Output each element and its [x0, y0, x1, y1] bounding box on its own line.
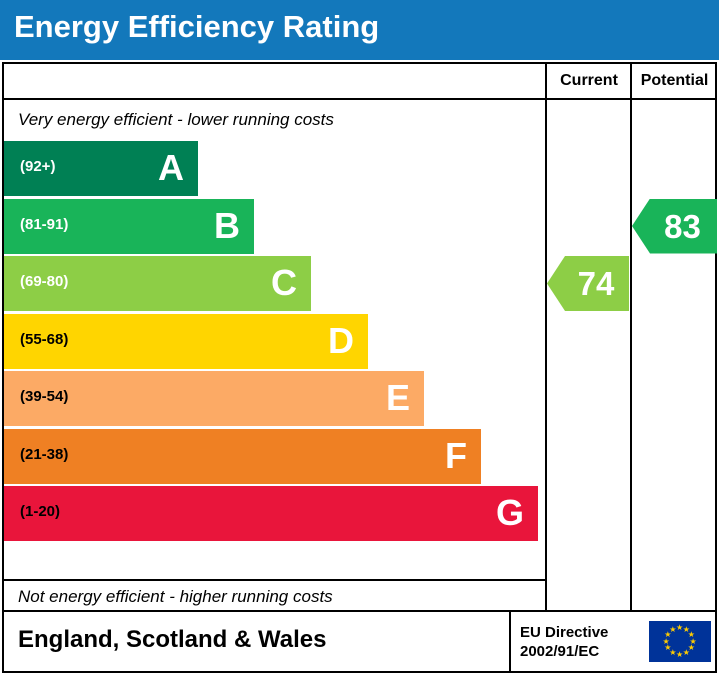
certificate-footer: England, Scotland & Wales EU Directive 2…	[2, 612, 717, 673]
column-divider-potential	[630, 64, 632, 610]
page-title: Energy Efficiency Rating	[14, 9, 379, 45]
band-range-a: (92+)	[20, 158, 55, 175]
eu-star-icon: ★	[669, 626, 676, 634]
band-bar-e: (39-54)E	[4, 371, 424, 426]
band-bar-c: (69-80)C	[4, 256, 311, 311]
eu-directive-line2: 2002/91/EC	[520, 643, 599, 660]
band-bar-b: (81-91)B	[4, 199, 254, 254]
current-rating-arrow: 74	[547, 256, 629, 311]
footer-divider	[509, 612, 511, 671]
eu-directive-line1: EU Directive	[520, 624, 608, 641]
potential-rating-arrow: 83	[632, 199, 717, 254]
footer-region-label: England, Scotland & Wales	[18, 626, 326, 654]
band-bar-g: (1-20)G	[4, 486, 538, 541]
band-letter-e: E	[386, 375, 410, 421]
band-letter-f: F	[445, 433, 467, 479]
rating-chart: Current Potential Very energy efficient …	[2, 62, 717, 612]
caption-inefficient: Not energy efficient - higher running co…	[18, 587, 333, 607]
band-range-c: (69-80)	[20, 273, 68, 290]
column-divider-current	[545, 64, 547, 610]
rating-value: 83	[664, 208, 701, 245]
chart-header-row: Current Potential	[4, 64, 715, 100]
band-bar-a: (92+)A	[4, 141, 198, 196]
column-header-potential: Potential	[632, 72, 717, 90]
band-bar-f: (21-38)F	[4, 429, 481, 484]
band-letter-a: A	[158, 145, 184, 191]
band-letter-g: G	[496, 490, 524, 536]
bands-bottom-rule	[4, 579, 545, 581]
band-range-b: (81-91)	[20, 216, 68, 233]
caption-efficient: Very energy efficient - lower running co…	[18, 110, 334, 130]
eu-star-icon: ★	[683, 649, 690, 657]
epc-certificate: Energy Efficiency Rating Current Potenti…	[0, 0, 719, 675]
band-letter-c: C	[271, 260, 297, 306]
column-header-current: Current	[547, 72, 631, 90]
eu-flag-icon: ★★★★★★★★★★★★	[649, 621, 711, 662]
band-letter-b: B	[214, 203, 240, 249]
band-range-f: (21-38)	[20, 446, 68, 463]
band-bar-d: (55-68)D	[4, 314, 368, 369]
rating-value: 74	[578, 265, 615, 302]
band-letter-d: D	[328, 318, 354, 364]
title-bar: Energy Efficiency Rating	[0, 0, 719, 60]
band-range-e: (39-54)	[20, 388, 68, 405]
band-range-d: (55-68)	[20, 331, 68, 348]
band-bars: (92+)A(81-91)B(69-80)C(55-68)D(39-54)E(2…	[4, 140, 545, 578]
eu-star-icon: ★	[676, 651, 683, 659]
band-range-g: (1-20)	[20, 503, 60, 520]
eu-directive-label: EU Directive 2002/91/EC	[520, 623, 640, 661]
